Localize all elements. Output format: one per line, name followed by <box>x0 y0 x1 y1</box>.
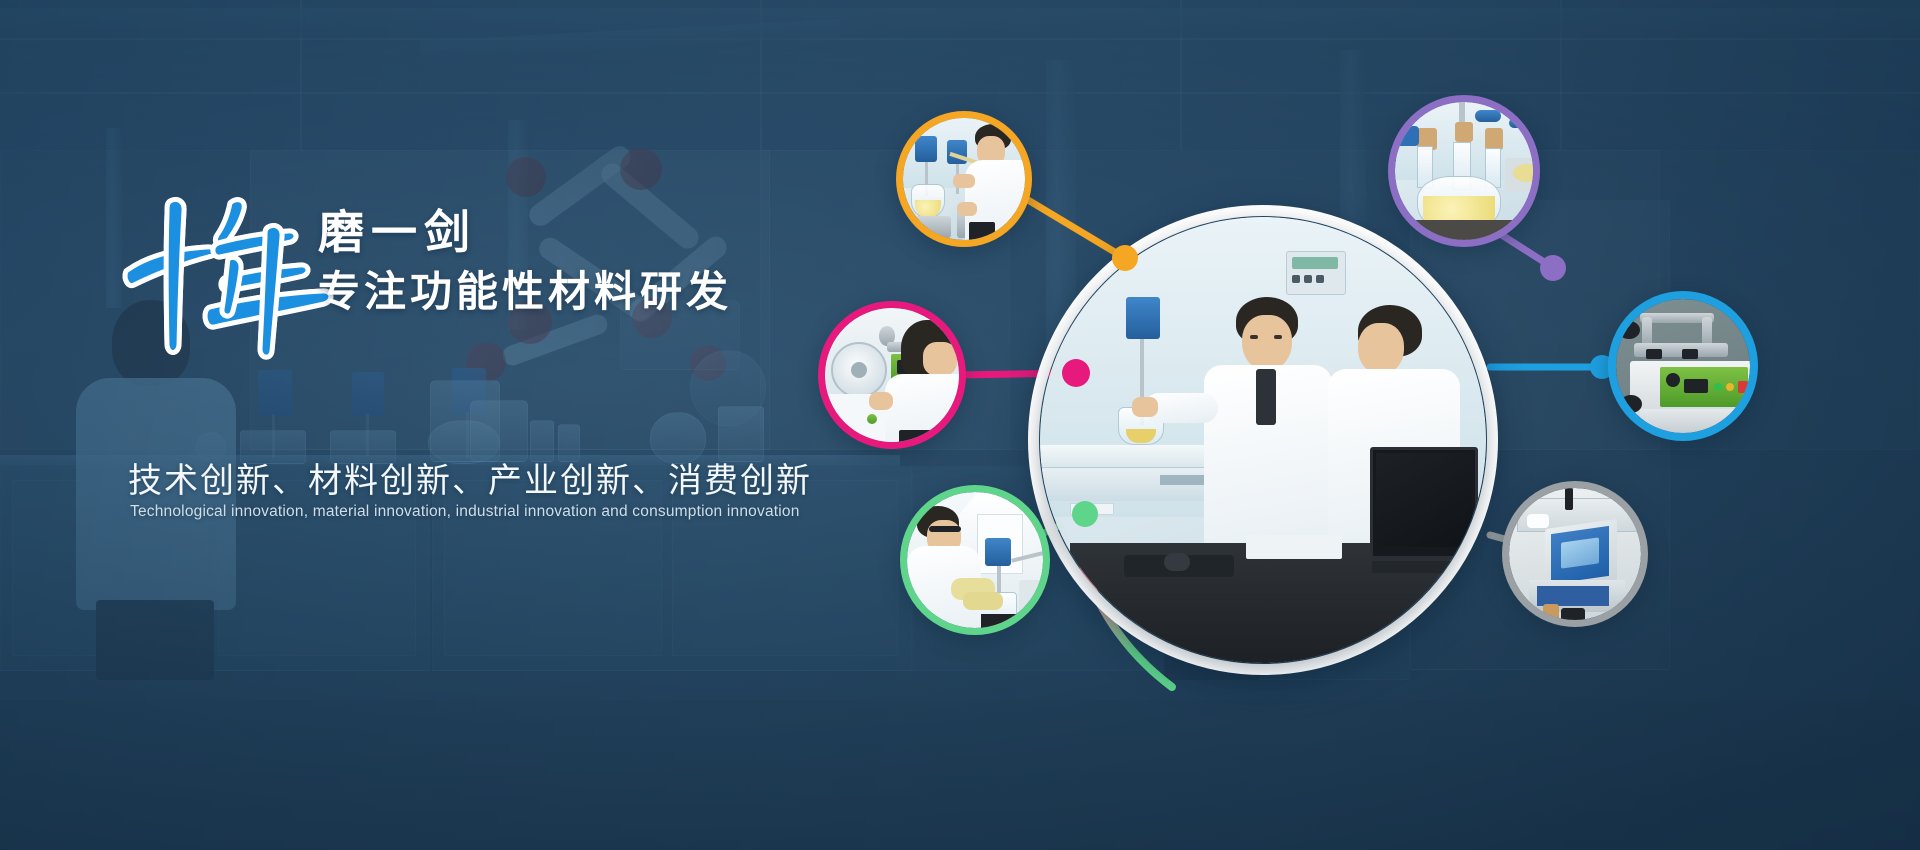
operator-hand <box>869 392 893 410</box>
node-mixing-fume-hood-image <box>907 492 1043 628</box>
sample-vial <box>1543 604 1559 620</box>
brush-calligraphy-shinian <box>122 185 337 360</box>
node-flask-stirring-image <box>1395 102 1533 240</box>
console-screen <box>1561 537 1599 568</box>
circular-photo-diagram <box>800 95 1920 795</box>
overhead-stirrer-motor <box>985 538 1011 566</box>
operator-face <box>923 342 957 376</box>
selector-knob <box>1666 373 1680 387</box>
roller-hub <box>851 362 867 378</box>
knob-left <box>1618 321 1640 339</box>
technician-hand <box>953 174 975 188</box>
researcher1-face <box>1242 315 1292 371</box>
dark-component <box>1561 608 1585 620</box>
heating-mantle <box>907 216 951 238</box>
node-mixing-fume-hood[interactable] <box>900 485 1050 635</box>
safety-glasses <box>929 526 961 532</box>
panel-button <box>1304 275 1312 283</box>
button-red <box>1738 381 1748 393</box>
operator-dark-clothing <box>899 430 953 442</box>
researcher1-eye <box>1250 335 1258 339</box>
technician-hand <box>957 202 977 216</box>
heating-mantle <box>1403 220 1523 240</box>
hub-pink <box>1062 359 1090 387</box>
node-coating-machine-image <box>825 308 959 442</box>
headline-block: 磨一剑 专注功能性材料研发 技术创新、材料创新、产业创新、消费创新 Techno… <box>122 185 822 370</box>
hub-orange <box>1112 245 1138 271</box>
headline-line-2: 专注功能性材料研发 <box>318 265 732 320</box>
node-coating-machine[interactable] <box>818 301 966 449</box>
sample-cup <box>1527 514 1549 528</box>
blue-glove <box>1395 126 1419 146</box>
blue-clamp <box>1475 110 1501 122</box>
node-testing-instrument-image <box>1616 299 1750 433</box>
bench-instrument <box>1019 580 1043 624</box>
hub-green <box>1072 501 1098 527</box>
node-testing-instrument[interactable] <box>1608 291 1758 441</box>
node-reactor-sampling-image <box>903 118 1025 240</box>
yellow-glove <box>963 592 1003 610</box>
hero-banner: 磨一剑 专注功能性材料研发 技术创新、材料创新、产业创新、消费创新 Techno… <box>0 0 1920 850</box>
blue-clamp <box>1509 118 1531 128</box>
researcher1-eye <box>1274 335 1282 339</box>
clamp-block <box>1682 349 1698 359</box>
knob-lower-left <box>1620 395 1642 413</box>
cork-stopper <box>1485 128 1503 150</box>
mouse <box>1164 553 1190 571</box>
panel-button <box>1316 275 1324 283</box>
button-green <box>1714 383 1722 391</box>
node-reactor-sampling[interactable] <box>896 111 1032 247</box>
center-photo-researchers-lab[interactable] <box>1040 217 1486 663</box>
instrument-base <box>1640 409 1750 433</box>
clamp-block <box>1646 349 1662 359</box>
headline-row: 磨一剑 专注功能性材料研发 <box>122 185 822 370</box>
subtitle-english: Technological innovation, material innov… <box>130 503 800 521</box>
panel-button <box>1292 275 1300 283</box>
button-yellow <box>1726 383 1734 391</box>
researcher1-hand <box>1132 397 1158 417</box>
node-flask-stirring[interactable] <box>1388 95 1540 247</box>
stirrer-motor <box>915 136 937 162</box>
monitor-screen <box>1376 453 1472 547</box>
keyboard <box>1372 561 1472 573</box>
paper-document <box>1246 535 1342 559</box>
second-flask-contents <box>1513 164 1533 182</box>
digital-display <box>1684 379 1708 393</box>
researcher2-face <box>1358 323 1404 375</box>
overhead-stirrer-motor <box>1126 297 1160 339</box>
base-blue-strip <box>1537 586 1609 606</box>
headline-line-1: 磨一剑 <box>318 205 732 259</box>
researcher1-collar <box>1256 369 1276 425</box>
dark-cable-bundle <box>969 222 995 240</box>
status-light <box>867 414 877 424</box>
probe-arm <box>1565 488 1573 510</box>
cork-stopper <box>1455 122 1473 142</box>
hub-purple <box>1540 255 1566 281</box>
node-analyzer-console[interactable] <box>1502 481 1648 627</box>
panel-display <box>1292 257 1338 269</box>
subtitle-chinese: 技术创新、材料创新、产业创新、消费创新 <box>128 453 812 502</box>
headline-text: 磨一剑 专注功能性材料研发 <box>318 205 732 320</box>
center-photo-image <box>1040 217 1486 663</box>
node-analyzer-console-image <box>1509 488 1641 620</box>
